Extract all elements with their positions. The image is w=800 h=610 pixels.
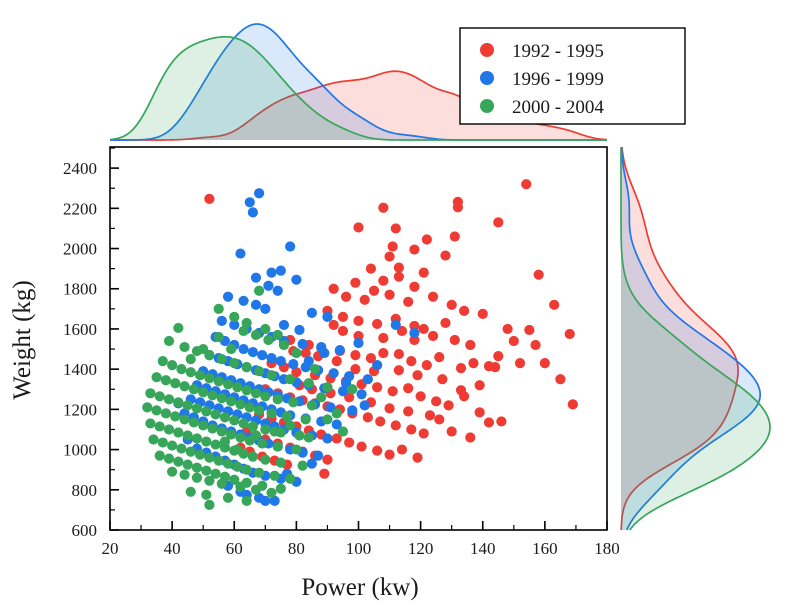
legend-label-1: 1992 - 1995 [512, 41, 604, 62]
legend-marker-2 [480, 71, 494, 85]
legend-label-2: 1996 - 1999 [512, 69, 604, 90]
legend-label-3: 2000 - 2004 [512, 97, 604, 118]
legend: 1992 - 19951996 - 19992000 - 2004 [0, 0, 800, 610]
joint-scatter-density-figure: 60080010001200140016001800200022002400 2… [0, 0, 800, 610]
legend-marker-3 [480, 99, 494, 113]
legend-marker-1 [480, 43, 494, 57]
